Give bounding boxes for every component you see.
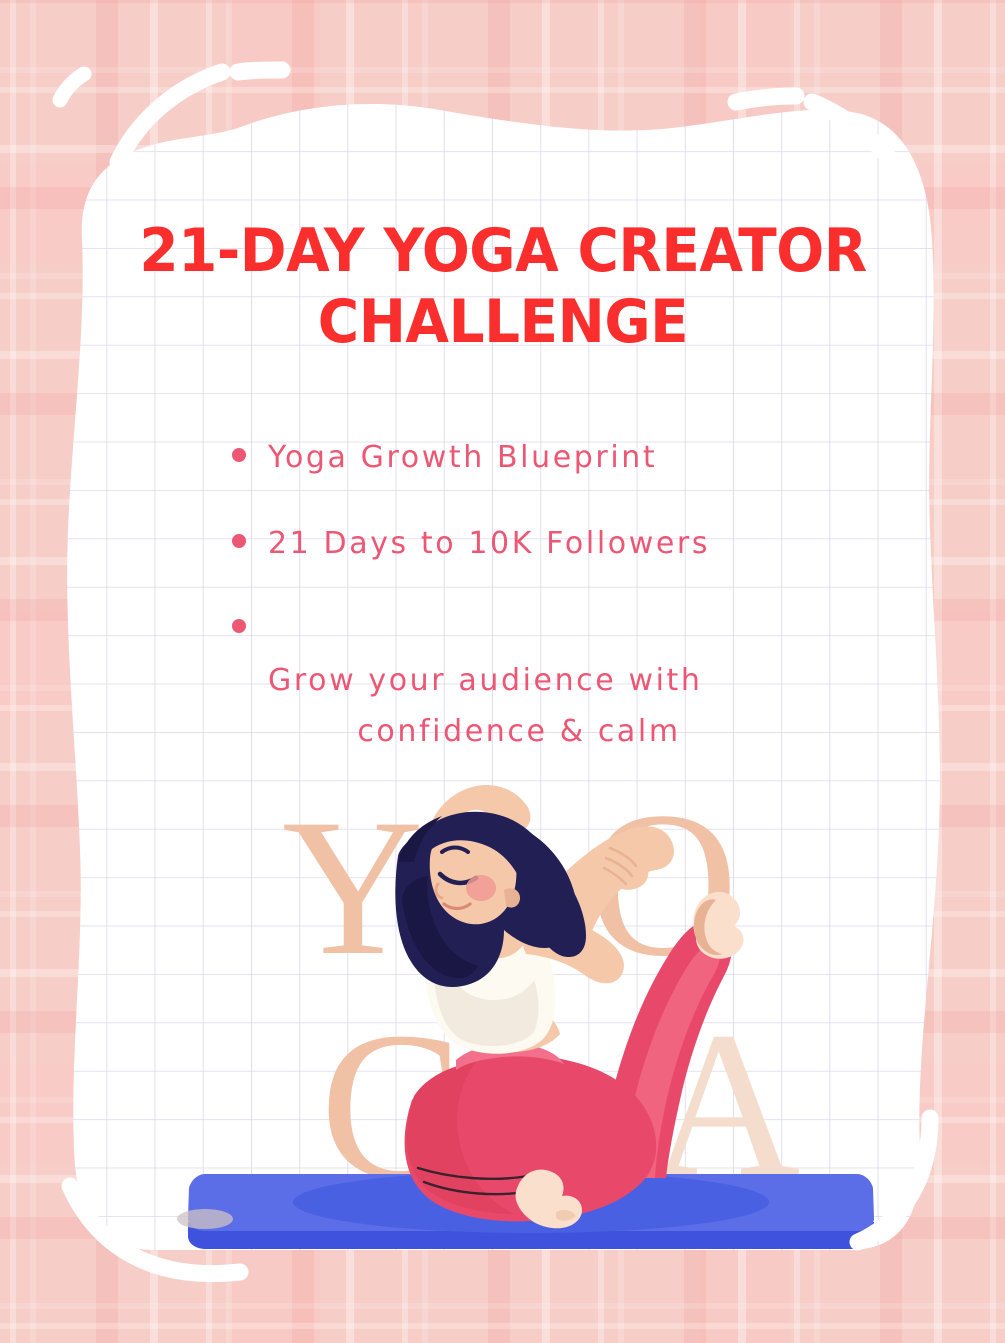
- poster-canvas: 21-DAY YOGA CREATOR CHALLENGE Yoga Growt…: [0, 0, 1005, 1343]
- list-item: Yoga Growth Blueprint: [232, 432, 792, 484]
- list-item: 21 Days to 10K Followers: [232, 518, 792, 570]
- backdrop-letter-o: O: [588, 780, 738, 988]
- list-item-label-line1: Grow your audience with: [268, 663, 703, 698]
- bullet-dot-icon: [232, 619, 246, 633]
- backdrop-letter-y: Y: [282, 790, 424, 986]
- list-item-label: Yoga Growth Blueprint: [268, 432, 792, 484]
- backdrop-letter-a: A: [650, 1000, 800, 1208]
- bullet-dot-icon: [232, 534, 246, 548]
- list-item-label-line2: confidence & calm: [268, 706, 792, 758]
- list-item-label: 21 Days to 10K Followers: [268, 518, 792, 570]
- bullet-dot-icon: [232, 448, 246, 462]
- page-title: 21-DAY YOGA CREATOR CHALLENGE: [113, 216, 893, 358]
- backdrop-letter-g: G: [320, 1000, 473, 1212]
